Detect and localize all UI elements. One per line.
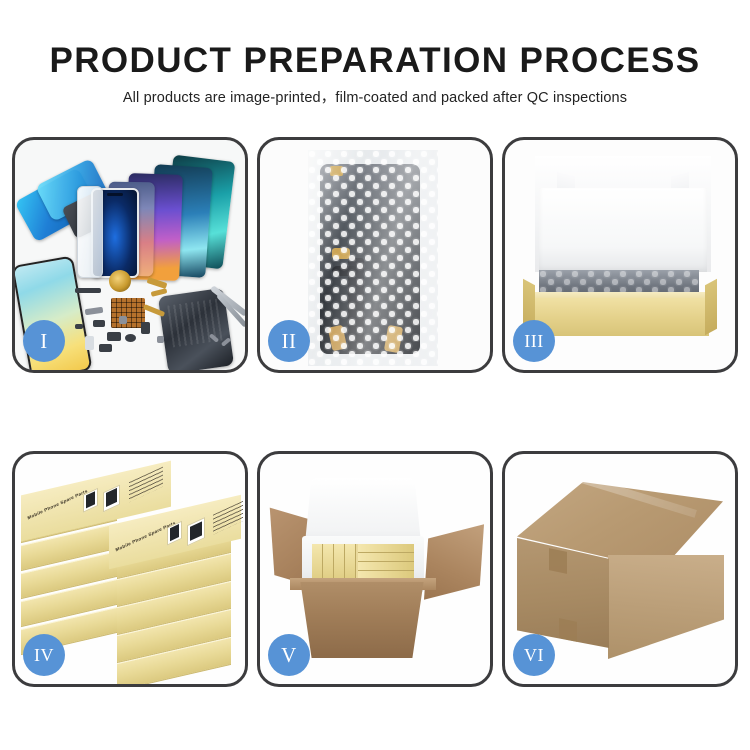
spare-part-bit — [157, 336, 164, 343]
process-step-card-3: III — [502, 137, 738, 373]
box-label-spec-lines — [129, 467, 163, 503]
tempered-glass-sheet — [77, 186, 103, 278]
step-badge-6: VI — [513, 634, 555, 676]
spare-part-bit — [107, 332, 121, 341]
plastic-sheen-overlay — [308, 150, 438, 366]
inner-box — [358, 544, 414, 553]
process-step-card-5: V — [257, 451, 493, 687]
process-step-card-6: VI — [502, 451, 738, 687]
spare-part-bit — [119, 316, 127, 324]
spare-part-bit — [85, 336, 94, 350]
bubble-wrap-bag — [308, 150, 438, 366]
box-label-product-name: Mobile Phone Spare Parts — [27, 488, 88, 520]
copper-coil-part — [109, 270, 131, 292]
spare-part-bit — [141, 322, 150, 334]
spare-part-bit — [93, 320, 105, 327]
carton-body — [292, 582, 432, 658]
kraft-box-right-side — [705, 279, 717, 335]
white-foam-insert — [539, 188, 707, 272]
spare-part-bit — [85, 307, 104, 315]
spare-part-bit — [75, 324, 83, 329]
inner-box — [358, 553, 414, 562]
box-label-phone-image — [187, 517, 205, 546]
box-label-phone-image — [103, 484, 120, 512]
inner-box — [358, 562, 414, 571]
spare-part-bit — [99, 344, 112, 352]
page-title: PRODUCT PREPARATION PROCESS — [0, 0, 750, 78]
chip-grid-part — [111, 298, 145, 328]
step-badge-1: I — [23, 320, 65, 362]
process-step-grid: I II — [12, 137, 738, 687]
tape-patch — [549, 548, 567, 574]
spare-part-bit — [75, 288, 101, 293]
step-badge-4: IV — [23, 634, 65, 676]
step-badge-3: III — [513, 320, 555, 362]
header: PRODUCT PREPARATION PROCESS All products… — [0, 0, 750, 106]
step-badge-2: II — [268, 320, 310, 362]
page-subtitle: All products are image-printed，film-coat… — [0, 78, 750, 106]
tape-patch — [559, 618, 577, 642]
product-preparation-infographic: PRODUCT PREPARATION PROCESS All products… — [0, 0, 750, 750]
process-step-card-2: II — [257, 137, 493, 373]
process-step-card-1: I — [12, 137, 248, 373]
box-label-spec-lines — [213, 501, 243, 535]
step-badge-5: V — [268, 634, 310, 676]
process-step-card-4: Mobile Phone Spare Parts Mobile Phone Sp… — [12, 451, 248, 687]
kraft-box-front — [529, 298, 709, 336]
phone-notch-icon — [107, 193, 123, 196]
carton-right-face — [608, 555, 724, 659]
spare-part-bit — [125, 334, 136, 342]
